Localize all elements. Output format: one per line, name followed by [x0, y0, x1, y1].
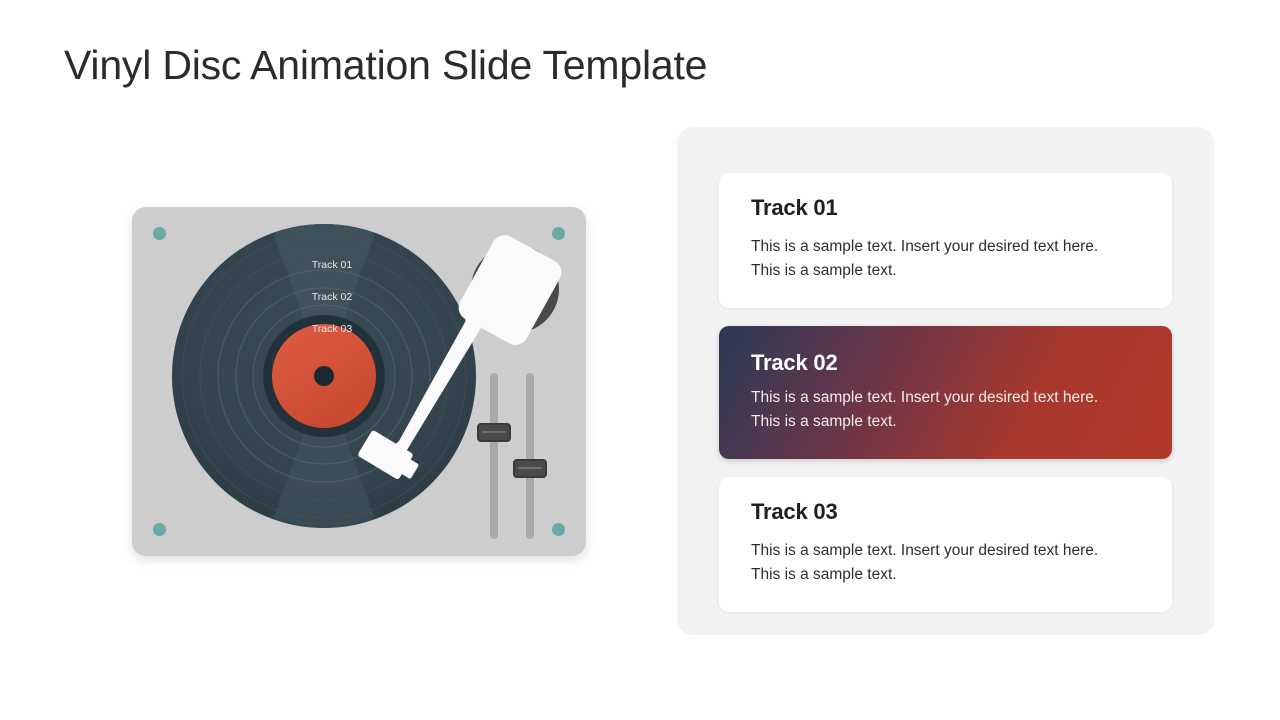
track-card-description: This is a sample text. Insert your desir…: [751, 539, 1121, 586]
disc-track-label-1: Track 01: [312, 259, 353, 271]
screw-icon-bottom-left: [153, 523, 166, 536]
vinyl-turntable-illustration: Track 01 Track 02 Track 03: [132, 207, 586, 556]
track-list-panel: Track 01 This is a sample text. Insert y…: [677, 127, 1214, 635]
fader-handle-1[interactable]: [477, 423, 511, 442]
track-card-title: Track 01: [751, 195, 1140, 221]
track-card-title: Track 03: [751, 499, 1140, 525]
disc-track-label-3: Track 03: [312, 323, 353, 335]
screw-icon-top-right: [552, 227, 565, 240]
fader-track-2[interactable]: [526, 373, 534, 539]
vinyl-spindle-hole: [314, 366, 334, 386]
track-card-description: This is a sample text. Insert your desir…: [751, 386, 1121, 433]
disc-track-label-2: Track 02: [312, 291, 353, 303]
screw-icon-top-left: [153, 227, 166, 240]
track-card-description: This is a sample text. Insert your desir…: [751, 235, 1121, 282]
fader-controls[interactable]: [484, 373, 556, 539]
track-card-3[interactable]: Track 03 This is a sample text. Insert y…: [719, 477, 1172, 612]
tonearm-pivot-icon: [471, 245, 559, 333]
track-card-title: Track 02: [751, 350, 1140, 376]
turntable-base: Track 01 Track 02 Track 03: [132, 207, 586, 556]
track-card-1[interactable]: Track 01 This is a sample text. Insert y…: [719, 173, 1172, 308]
page-title: Vinyl Disc Animation Slide Template: [64, 42, 707, 89]
fader-track-1[interactable]: [490, 373, 498, 539]
fader-handle-2[interactable]: [513, 459, 547, 478]
track-card-2[interactable]: Track 02 This is a sample text. Insert y…: [719, 326, 1172, 459]
vinyl-record[interactable]: Track 01 Track 02 Track 03: [171, 223, 477, 529]
